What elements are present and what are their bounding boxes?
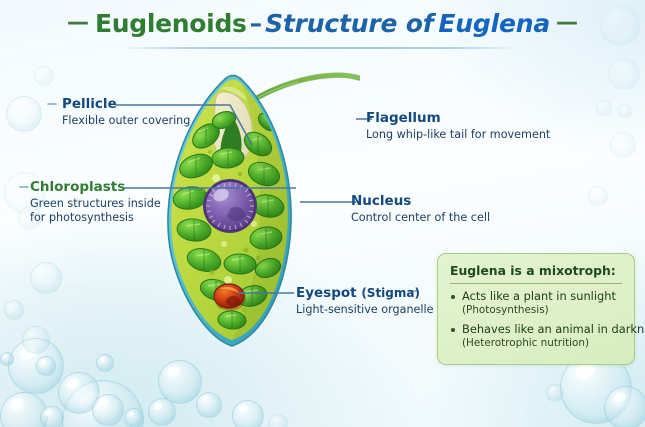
bubble	[596, 100, 612, 116]
title-divider	[120, 47, 520, 49]
callout-nucleus-heading: Nucleus	[351, 193, 490, 209]
bubble	[618, 104, 632, 118]
callout-flagellum: Flagellum Long whip-like tail for moveme…	[366, 110, 550, 142]
title-word-euglena: Euglena	[433, 9, 550, 38]
bubble	[546, 384, 564, 402]
bubble	[604, 386, 645, 427]
info-box-title: Euglena is a mixotroph:	[450, 263, 616, 278]
callout-chloroplasts-heading: Chloroplasts	[30, 179, 161, 195]
bubble	[232, 400, 264, 427]
info-box-item: Acts like a plant in sunlight (Photosynt…	[450, 290, 628, 316]
bubble	[96, 354, 114, 372]
bubble	[34, 66, 54, 86]
bubble	[40, 406, 64, 427]
title-word-structure-of: Structure of	[265, 9, 433, 38]
info-box-item-main: Behaves like an animal in darkness	[462, 323, 628, 337]
title-separator: –	[247, 9, 266, 38]
info-box-item-main: Acts like a plant in sunlight	[462, 290, 628, 304]
bullet-icon	[451, 295, 455, 299]
page-title: —Euglenoids–Structure ofEuglena—	[0, 8, 645, 39]
callout-eyespot-heading: Eyespot (Stigma)	[296, 285, 434, 301]
bubble	[30, 262, 62, 294]
info-box-item-sub: (Photosynthesis)	[462, 304, 628, 317]
bubble	[0, 352, 14, 366]
callout-chloroplasts: Chloroplasts Green structures inside for…	[30, 179, 161, 225]
title-dash-right: —	[550, 10, 584, 35]
callout-nucleus: Nucleus Control center of the cell	[351, 193, 490, 225]
mixotroph-info-box: Euglena is a mixotroph: Acts like a plan…	[437, 253, 635, 365]
callout-eyespot: Eyespot (Stigma) Light-sensitive organel…	[296, 285, 434, 317]
title-word-euglenoids: Euglenoids	[95, 9, 247, 38]
callout-eyespot-heading-main: Eyespot	[296, 285, 357, 301]
callout-eyespot-description: Light-sensitive organelle	[296, 303, 434, 317]
nucleus-shape	[203, 179, 257, 233]
callout-pellicle: Pellicle Flexible outer covering	[62, 96, 190, 128]
bubble	[92, 394, 124, 426]
info-box-divider	[450, 283, 622, 284]
callout-pellicle-description: Flexible outer covering	[62, 114, 190, 128]
callout-pellicle-heading: Pellicle	[62, 96, 190, 112]
callout-flagellum-description: Long whip-like tail for movement	[366, 128, 550, 142]
info-box-item-sub: (Heterotrophic nutrition)	[462, 337, 628, 350]
info-box-list: Acts like a plant in sunlight (Photosynt…	[450, 290, 628, 349]
bubble	[196, 392, 222, 418]
bubble	[4, 300, 24, 320]
bubble	[588, 186, 608, 206]
callout-flagellum-heading: Flagellum	[366, 110, 550, 126]
bullet-icon	[451, 328, 455, 332]
info-box-item: Behaves like an animal in darkness (Hete…	[450, 323, 628, 349]
title-dash-left: —	[61, 10, 95, 35]
bubble	[22, 326, 50, 354]
bubble	[608, 58, 640, 90]
bubble	[36, 356, 56, 376]
callout-chloroplasts-description-line1: Green structures inside	[30, 197, 161, 211]
bubble	[6, 96, 42, 132]
callout-chloroplasts-description-line2: for photosynthesis	[30, 211, 161, 225]
callout-eyespot-heading-sub: (Stigma)	[361, 286, 420, 300]
bubble	[124, 408, 144, 427]
bubble	[610, 132, 636, 158]
diagram-canvas: —Euglenoids–Structure ofEuglena—	[0, 0, 645, 427]
callout-nucleus-description: Control center of the cell	[351, 211, 490, 225]
bubble	[268, 414, 288, 427]
bubble	[158, 360, 202, 404]
